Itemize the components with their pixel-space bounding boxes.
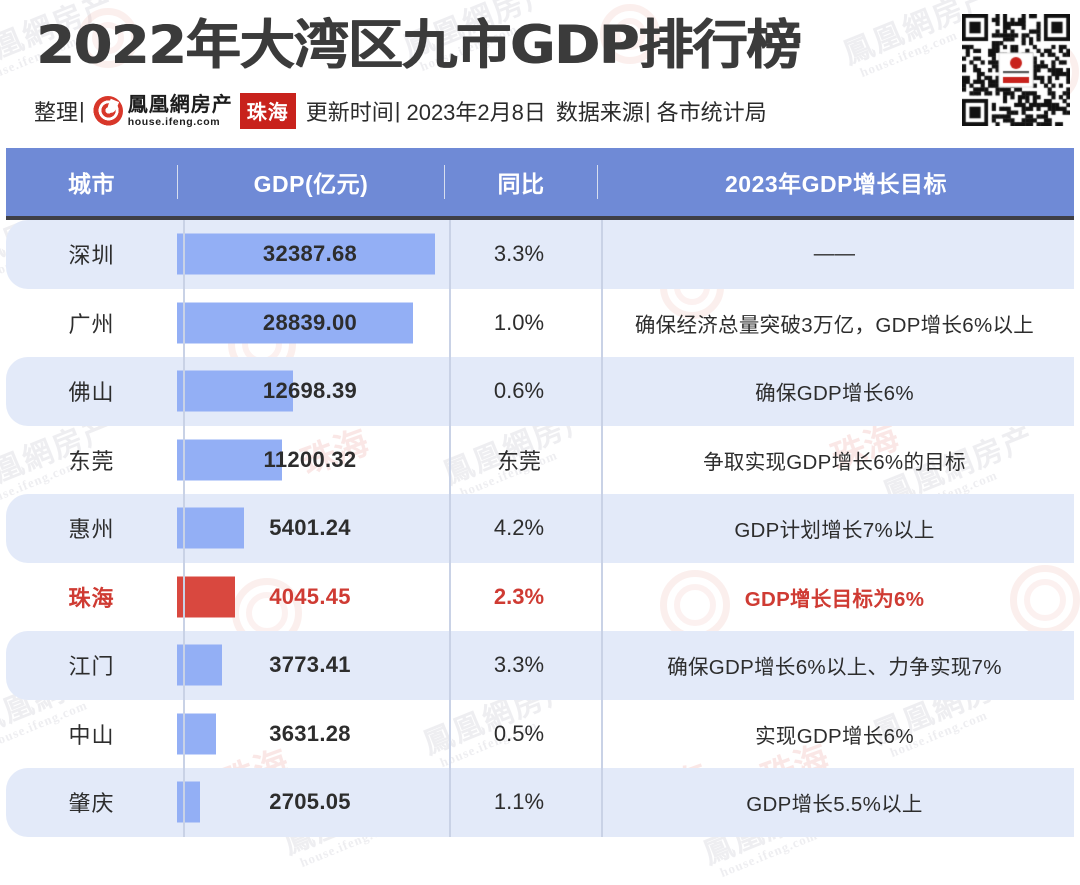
goal-text: 确保GDP增长6% xyxy=(755,376,914,406)
table-row: 中山3631.280.5%实现GDP增长6% xyxy=(6,700,1074,769)
table-row: 惠州5401.244.2%GDP计划增长7%以上 xyxy=(6,494,1074,563)
goal-text: GDP计划增长7%以上 xyxy=(734,513,934,543)
table-header-row: 城市 GDP(亿元) 同比 2023年GDP增长目标 xyxy=(6,148,1074,220)
compiled-by-label: 整理 xyxy=(34,95,78,127)
yoy-value: 4.2% xyxy=(494,515,544,541)
cell-goal: 确保GDP增长6% xyxy=(595,357,1074,426)
yoy-value: 3.3% xyxy=(494,241,544,267)
table-row: 东莞11200.32东莞争取实现GDP增长6%的目标 xyxy=(6,426,1074,495)
column-divider xyxy=(601,563,603,632)
cell-city: 珠海 xyxy=(6,563,177,632)
gdp-value: 3773.41 xyxy=(177,652,443,678)
cell-yoy: 0.5% xyxy=(443,700,595,769)
column-header-gdp: GDP(亿元) xyxy=(177,165,444,199)
goal-text: —— xyxy=(814,242,856,266)
goal-text: GDP增长5.5%以上 xyxy=(746,787,922,817)
gdp-value: 32387.68 xyxy=(177,241,443,267)
column-header-city: 城市 xyxy=(6,165,177,199)
column-divider xyxy=(449,563,451,632)
column-divider xyxy=(449,768,451,837)
column-header-yoy: 同比 xyxy=(444,165,597,199)
city-name: 惠州 xyxy=(68,512,114,544)
table-body: 深圳32387.683.3%——广州28839.001.0%确保经济总量突破3万… xyxy=(6,220,1074,837)
gdp-value: 4045.45 xyxy=(177,584,443,610)
gdp-value: 5401.24 xyxy=(177,515,443,541)
city-name: 珠海 xyxy=(68,581,114,613)
goal-text: GDP增长目标为6% xyxy=(745,582,925,612)
column-divider xyxy=(449,494,451,563)
table-row: 佛山12698.390.6%确保GDP增长6% xyxy=(6,357,1074,426)
logo-domain: house.ifeng.com xyxy=(128,117,233,128)
qr-code-icon[interactable] xyxy=(962,14,1070,126)
cell-goal: 实现GDP增长6% xyxy=(595,700,1074,769)
page-title: 2022年大湾区九市GDP排行榜 xyxy=(36,16,800,76)
cell-goal: GDP计划增长7%以上 xyxy=(595,494,1074,563)
cell-city: 佛山 xyxy=(6,357,177,426)
cell-yoy: 2.3% xyxy=(443,563,595,632)
table-row: 广州28839.001.0%确保经济总量突破3万亿，GDP增长6%以上 xyxy=(6,289,1074,358)
separator-3: | xyxy=(645,98,651,124)
gdp-value: 28839.00 xyxy=(177,310,443,336)
cell-city: 广州 xyxy=(6,289,177,358)
cell-yoy: 1.1% xyxy=(443,768,595,837)
goal-text: 确保经济总量突破3万亿，GDP增长6%以上 xyxy=(635,308,1034,338)
column-divider xyxy=(601,768,603,837)
city-name: 深圳 xyxy=(68,238,114,270)
table-row: 肇庆2705.051.1%GDP增长5.5%以上 xyxy=(6,768,1074,837)
column-header-goal: 2023年GDP增长目标 xyxy=(597,165,1074,199)
cell-city: 东莞 xyxy=(6,426,177,495)
cell-city: 中山 xyxy=(6,700,177,769)
cell-gdp: 12698.39 xyxy=(177,357,443,426)
column-divider xyxy=(449,426,451,495)
goal-text: 争取实现GDP增长6%的目标 xyxy=(703,445,966,475)
table-row: 江门3773.413.3%确保GDP增长6%以上、力争实现7% xyxy=(6,631,1074,700)
column-divider xyxy=(601,357,603,426)
cell-goal: 争取实现GDP增长6%的目标 xyxy=(595,426,1074,495)
page-header: 2022年大湾区九市GDP排行榜 整理 | 鳳凰網房产 house.ifeng.… xyxy=(0,0,1080,148)
cell-gdp: 3773.41 xyxy=(177,631,443,700)
logo-city-badge: 珠海 xyxy=(240,93,296,129)
cell-gdp: 3631.28 xyxy=(177,700,443,769)
column-divider xyxy=(601,220,603,289)
column-divider xyxy=(601,494,603,563)
cell-goal: —— xyxy=(595,220,1074,289)
table-row: 珠海4045.452.3%GDP增长目标为6% xyxy=(6,563,1074,632)
column-divider xyxy=(449,357,451,426)
ifeng-phoenix-logo-icon xyxy=(93,96,123,126)
update-time-label: 更新时间 xyxy=(306,95,394,127)
cell-goal: 确保经济总量突破3万亿，GDP增长6%以上 xyxy=(595,289,1074,358)
city-name: 佛山 xyxy=(68,375,114,407)
cell-goal: 确保GDP增长6%以上、力争实现7% xyxy=(595,631,1074,700)
yoy-value: 东莞 xyxy=(497,444,541,476)
gdp-ranking-table: 城市 GDP(亿元) 同比 2023年GDP增长目标 深圳32387.683.3… xyxy=(6,148,1074,837)
cell-yoy: 3.3% xyxy=(443,220,595,289)
column-divider xyxy=(449,631,451,700)
city-name: 广州 xyxy=(68,307,114,339)
cell-city: 惠州 xyxy=(6,494,177,563)
yoy-value: 0.6% xyxy=(494,378,544,404)
column-divider xyxy=(449,289,451,358)
separator-1: | xyxy=(79,98,85,124)
data-source-label: 数据来源 xyxy=(556,95,644,127)
cell-city: 深圳 xyxy=(6,220,177,289)
gdp-value: 11200.32 xyxy=(177,447,443,473)
cell-gdp: 11200.32 xyxy=(177,426,443,495)
column-divider xyxy=(449,700,451,769)
logo-cn-name: 鳳凰網房产 xyxy=(128,95,233,115)
city-name: 江门 xyxy=(68,649,114,681)
ifeng-logo[interactable]: 鳳凰網房产 house.ifeng.com 珠海 xyxy=(93,93,296,129)
cell-yoy: 0.6% xyxy=(443,357,595,426)
gdp-value: 2705.05 xyxy=(177,789,443,815)
gdp-value: 12698.39 xyxy=(177,378,443,404)
table-row: 深圳32387.683.3%—— xyxy=(6,220,1074,289)
cell-yoy: 4.2% xyxy=(443,494,595,563)
cell-gdp: 28839.00 xyxy=(177,289,443,358)
column-divider xyxy=(601,426,603,495)
cell-gdp: 5401.24 xyxy=(177,494,443,563)
city-name: 肇庆 xyxy=(68,786,114,818)
gdp-value: 3631.28 xyxy=(177,721,443,747)
column-divider xyxy=(601,289,603,358)
city-name: 东莞 xyxy=(68,444,114,476)
subtitle-bar: 整理 | 鳳凰網房产 house.ifeng.com 珠海 更新时间 | 202… xyxy=(34,92,767,130)
cell-gdp: 4045.45 xyxy=(177,563,443,632)
yoy-value: 2.3% xyxy=(494,584,544,610)
cell-goal: GDP增长目标为6% xyxy=(595,563,1074,632)
cell-yoy: 1.0% xyxy=(443,289,595,358)
cell-yoy: 东莞 xyxy=(443,426,595,495)
yoy-value: 1.1% xyxy=(494,789,544,815)
data-source-value: 各市统计局 xyxy=(657,95,767,127)
city-name: 中山 xyxy=(68,718,114,750)
cell-city: 肇庆 xyxy=(6,768,177,837)
yoy-value: 3.3% xyxy=(494,652,544,678)
cell-yoy: 3.3% xyxy=(443,631,595,700)
cell-gdp: 2705.05 xyxy=(177,768,443,837)
yoy-value: 1.0% xyxy=(494,310,544,336)
column-divider xyxy=(449,220,451,289)
column-divider xyxy=(601,700,603,769)
column-divider xyxy=(601,631,603,700)
cell-gdp: 32387.68 xyxy=(177,220,443,289)
separator-2: | xyxy=(395,98,401,124)
update-time-value: 2023年2月8日 xyxy=(406,95,545,127)
goal-text: 实现GDP增长6% xyxy=(755,719,914,749)
cell-goal: GDP增长5.5%以上 xyxy=(595,768,1074,837)
cell-city: 江门 xyxy=(6,631,177,700)
yoy-value: 0.5% xyxy=(494,721,544,747)
goal-text: 确保GDP增长6%以上、力争实现7% xyxy=(667,650,1002,680)
